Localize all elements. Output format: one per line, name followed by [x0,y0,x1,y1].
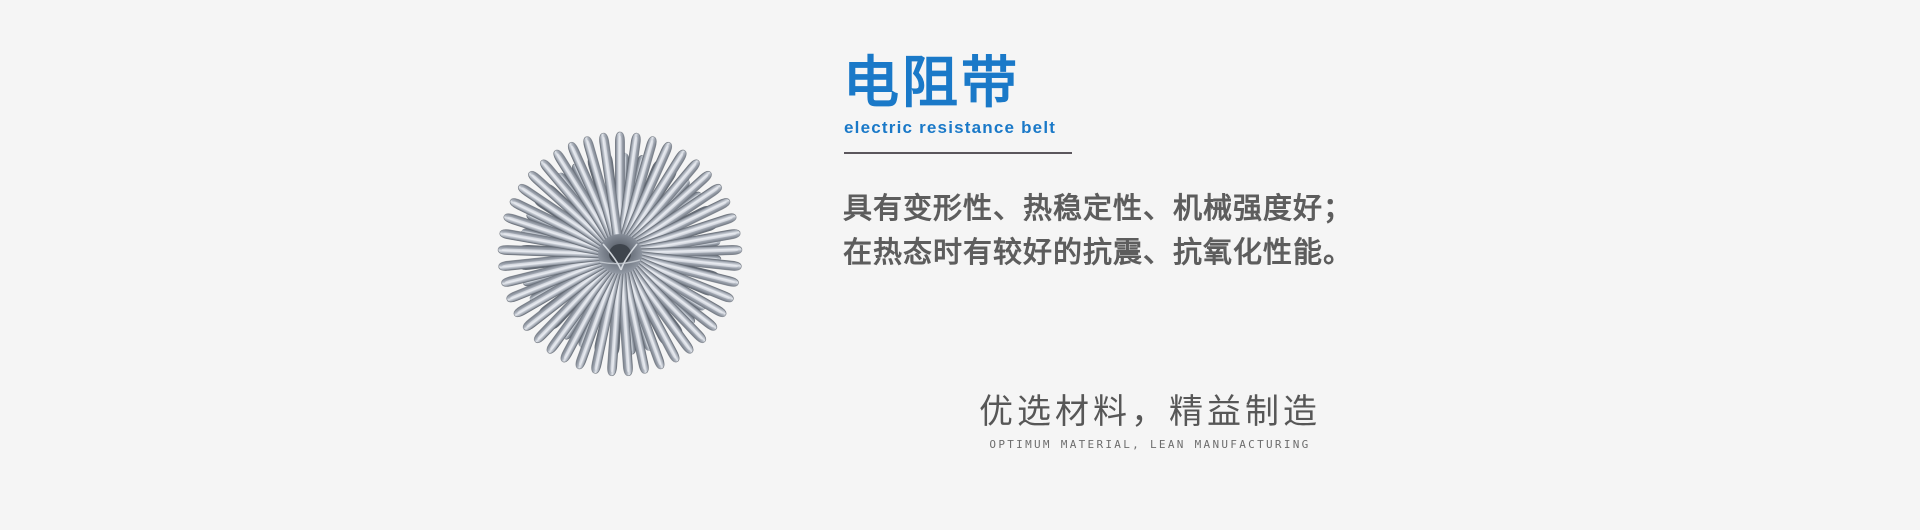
resistance-belt-illustration [412,94,828,450]
description-line-1: 具有变形性、热稳定性、机械强度好； [843,186,1353,230]
title-divider [844,152,1072,154]
slogan-english: OPTIMUM MATERIAL, LEAN MANUFACTURING [950,438,1350,452]
slogan-block: 优选材料，精益制造 OPTIMUM MATERIAL, LEAN MANUFAC… [950,390,1350,452]
banner-right-filler [1410,0,1920,530]
page-title: 电阻带 [843,52,1020,116]
text-column: 电阻带 electric resistance belt 具有变形性、热稳定性、… [838,0,1408,530]
slogan-chinese: 优选材料，精益制造 [950,390,1350,434]
page-subtitle: electric resistance belt [844,117,1056,139]
photo-edge-fade [412,94,828,436]
product-description: 具有变形性、热稳定性、机械强度好； 在热态时有较好的抗震、抗氧化性能。 [843,186,1353,274]
product-image [412,94,828,450]
description-line-2: 在热态时有较好的抗震、抗氧化性能。 [843,230,1353,274]
banner-canvas: 电阻带 electric resistance belt 具有变形性、热稳定性、… [0,0,1410,530]
product-banner: 电阻带 electric resistance belt 具有变形性、热稳定性、… [0,0,1920,530]
